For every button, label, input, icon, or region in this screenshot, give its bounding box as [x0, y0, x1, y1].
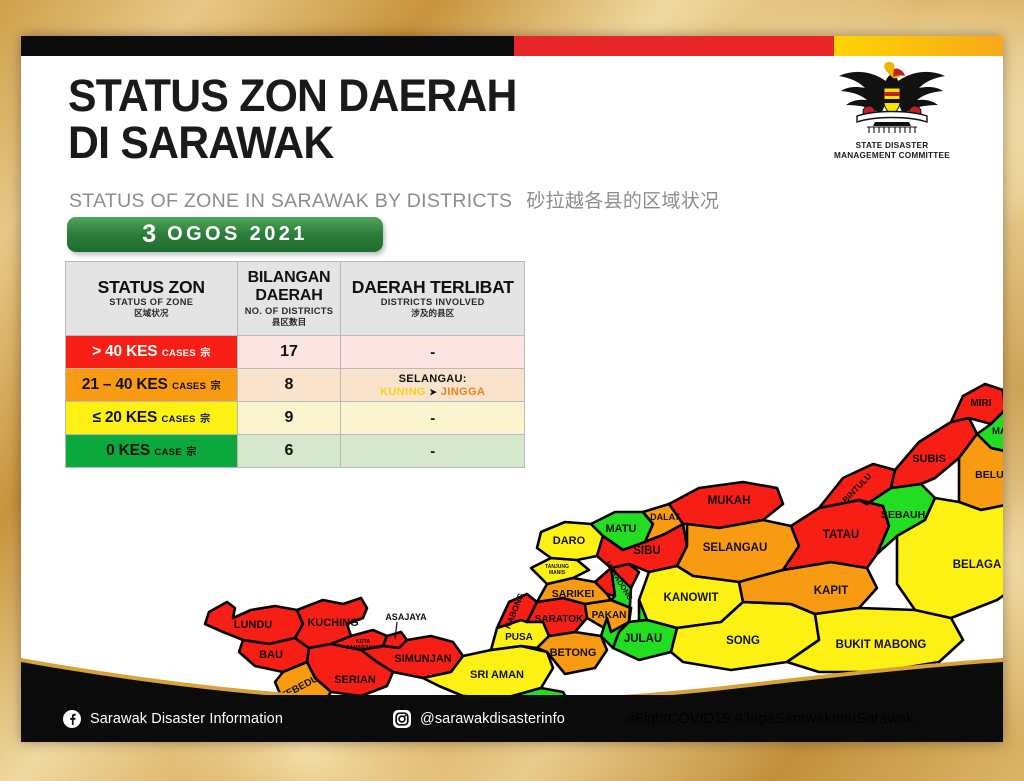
map-label-sibu: SIBU [633, 545, 660, 557]
map-label-belaga: BELAGA [953, 559, 1002, 571]
instagram-icon [393, 710, 411, 728]
hashtags: #FightCOVID19 #JagaSarawakIntuSarawak [627, 711, 914, 727]
facebook-icon [63, 710, 81, 728]
col2-ms: DAERAH TERLIBAT [345, 278, 520, 296]
col1-cn: 县区数目 [242, 316, 337, 328]
map-label-matu: MATU [606, 523, 637, 535]
subtitle-chinese: 砂拉越各县的区域状况 [526, 191, 719, 212]
facebook-account[interactable]: Sarawak Disaster Information [63, 710, 283, 728]
map-label-dalat: DALAT [650, 512, 680, 522]
top-color-bar [21, 36, 1003, 56]
map-label-mukah: MUKAH [708, 495, 751, 507]
map-label-kapit: KAPIT [814, 585, 849, 597]
organization-logo: STATE DISASTER MANAGEMENT COMMITTEE [817, 56, 967, 161]
col2-cn: 涉及的县区 [345, 307, 520, 319]
zone-sub-3: CASE [154, 447, 181, 458]
table-header-row: STATUS ZON STATUS OF ZONE 区域状况 BILANGAN … [66, 262, 525, 336]
date-badge: 3 OGOS 2021 [67, 217, 383, 252]
sarawak-coat-of-arms-icon [817, 56, 967, 134]
map-label-tanjung-manis-2: MANIS [549, 570, 566, 576]
map-label-sebauh: SEBAUH [881, 509, 925, 521]
column-header-status-zone: STATUS ZON STATUS OF ZONE 区域状况 [66, 262, 238, 336]
column-header-district-count: BILANGAN DAERAH NO. OF DISTRICTS 县区数目 [237, 262, 341, 336]
logo-caption-line1: STATE DISASTER [817, 141, 967, 151]
map-label-selangau: SELANGAU [703, 542, 768, 554]
logo-caption: STATE DISASTER MANAGEMENT COMMITTEE [817, 141, 967, 161]
map-label-miri: MIRI [970, 398, 991, 409]
date-month-year: OGOS 2021 [167, 223, 308, 246]
instagram-account[interactable]: @sarawakdisasterinfo [393, 710, 565, 728]
map-label-kanowit: KANOWIT [664, 592, 719, 604]
zone-threshold-3: 0 KES [106, 442, 150, 459]
page-subtitle: STATUS OF ZONE IN SARAWAK BY DISTRICTS砂拉… [69, 186, 719, 213]
zone-threshold-0: > 40 KES [92, 343, 157, 360]
infographic-root: STATUS ZON DAERAH DI SARAWAK STATUS OF Z… [0, 0, 1024, 781]
col1-ms: BILANGAN DAERAH [242, 269, 337, 305]
map-label-asajaya: ASAJAYA [385, 612, 427, 622]
page-title: STATUS ZON DAERAH DI SARAWAK [68, 72, 517, 166]
topbar-gold-segment [834, 36, 1003, 56]
col0-en: STATUS OF ZONE [70, 297, 233, 307]
column-header-districts-involved: DAERAH TERLIBAT DISTRICTS INVOLVED 涉及的县区 [341, 262, 525, 336]
col0-ms: STATUS ZON [70, 278, 233, 296]
date-day: 3 [142, 220, 156, 249]
map-label-beluru: BELURU [975, 469, 1003, 481]
instagram-label: @sarawakdisasterinfo [420, 711, 565, 727]
map-label-marudi: MARUDI [992, 426, 1003, 437]
topbar-black-segment [21, 36, 514, 56]
col0-cn: 区域状况 [70, 307, 233, 319]
zone-threshold-2: ≤ 20 KES [92, 409, 157, 426]
topbar-red-segment [514, 36, 834, 56]
facebook-label: Sarawak Disaster Information [90, 711, 283, 727]
map-label-pakan: PAKAN [592, 610, 627, 621]
map-label-subis: SUBIS [912, 453, 946, 465]
poster-card: STATUS ZON DAERAH DI SARAWAK STATUS OF Z… [21, 36, 1003, 742]
logo-caption-line2: MANAGEMENT COMMITTEE [817, 151, 967, 161]
subtitle-english: STATUS OF ZONE IN SARAWAK BY DISTRICTS [69, 190, 512, 212]
map-label-sarikei: SARIKEI [552, 588, 595, 600]
map-label-daro: DARO [553, 535, 586, 547]
zone-threshold-1: 21 – 40 KES [82, 376, 168, 393]
col2-en: DISTRICTS INVOLVED [345, 297, 520, 307]
col1-en: NO. OF DISTRICTS [242, 306, 337, 316]
map-label-tatau: TATAU [823, 529, 859, 541]
footer-bar: Sarawak Disaster Information @sarawakdis… [21, 695, 1003, 742]
